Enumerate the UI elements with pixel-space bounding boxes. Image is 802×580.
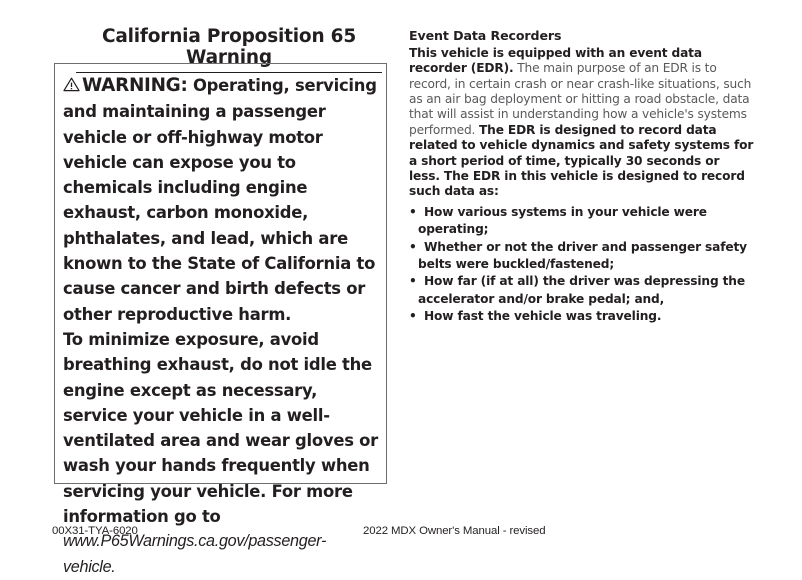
warning-paragraph-1: WARNING: Operating, servicing and mainta… — [63, 73, 378, 327]
list-item: Whether or not the driver and passenger … — [409, 239, 754, 274]
edr-bullet-list: How various systems in your vehicle were… — [409, 204, 754, 326]
footer-manual-title: 2022 MDX Owner's Manual - revised — [363, 525, 545, 537]
warning-label: WARNING: — [63, 75, 188, 96]
section-heading: Event Data Recorders — [409, 28, 754, 44]
list-item: How various systems in your vehicle were… — [409, 204, 754, 239]
list-item: How fast the vehicle was traveling. — [409, 308, 754, 325]
event-data-recorders-section: Event Data Recorders This vehicle is equ… — [409, 28, 754, 326]
warning-paragraph-2: To minimize exposure, avoid breathing ex… — [63, 327, 378, 529]
warning-label-text: WARNING: — [82, 75, 188, 96]
footer-part-number: 00X31-TYA-6020 — [52, 525, 138, 537]
warning-text-1: Operating, servicing and maintaining a p… — [63, 76, 377, 324]
list-item: How far (if at all) the driver was depre… — [409, 273, 754, 308]
edr-paragraph: This vehicle is equipped with an event d… — [409, 46, 754, 200]
proposition-65-section: California Proposition 65 Warning WARNIN… — [54, 26, 389, 73]
warning-box: WARNING: Operating, servicing and mainta… — [54, 63, 387, 484]
warning-triangle-icon — [63, 74, 80, 99]
